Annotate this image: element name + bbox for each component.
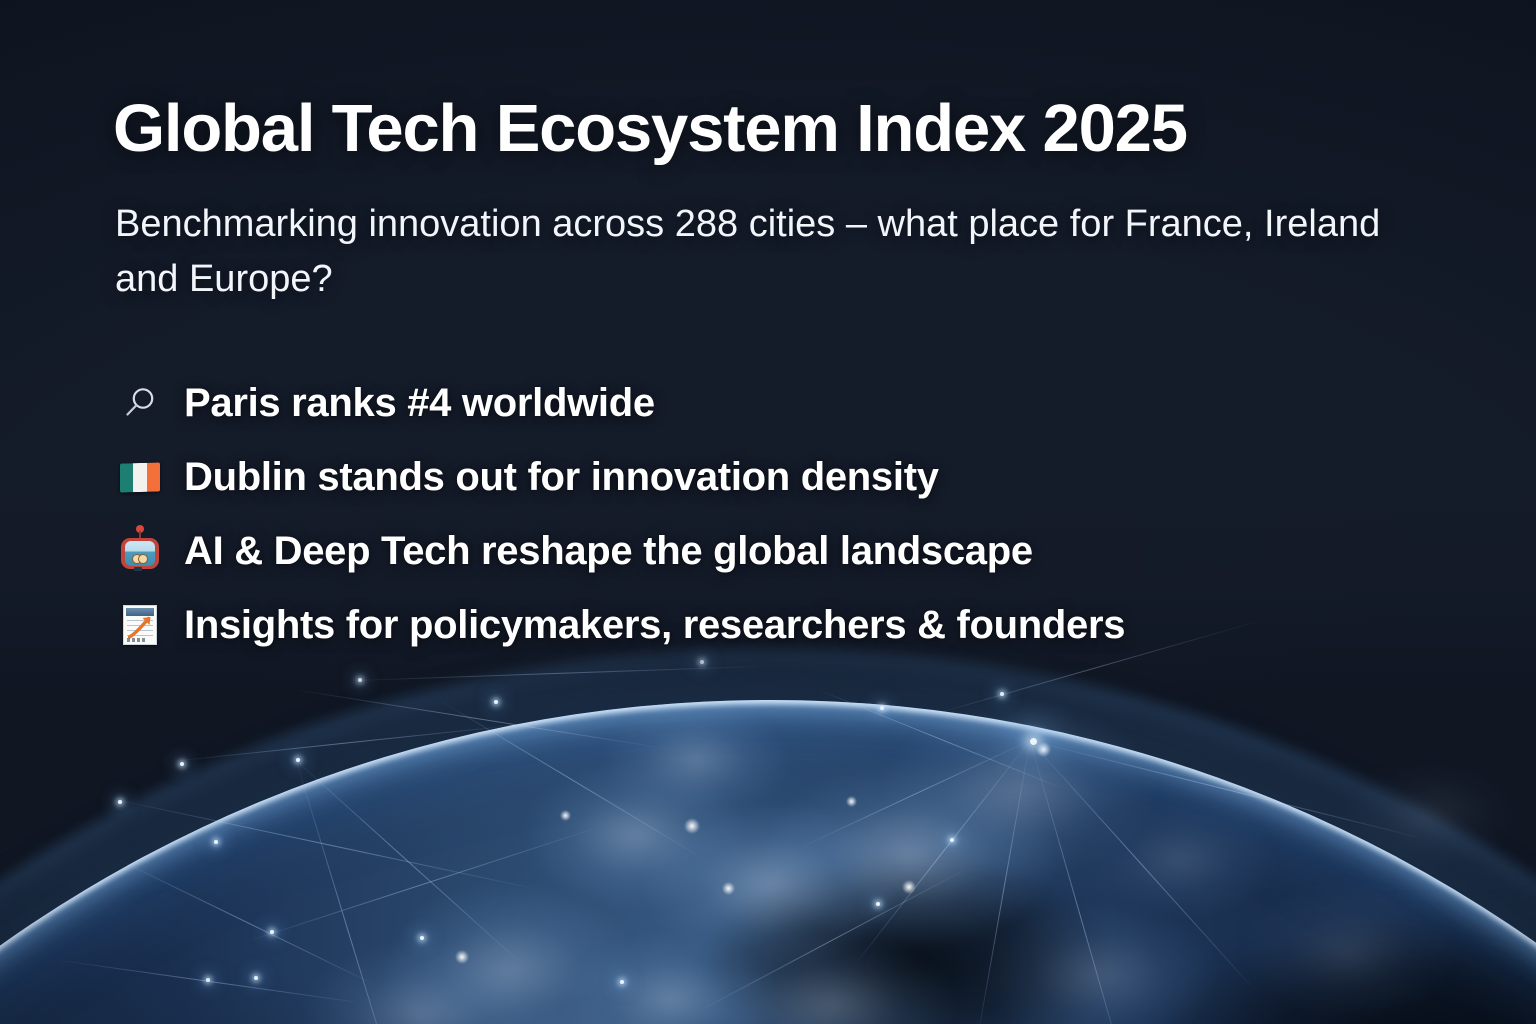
highlight-list: Paris ranks #4 worldwide Dublin stands o… xyxy=(118,366,1125,662)
robot-icon xyxy=(118,529,162,573)
page-subtitle: Benchmarking innovation across 288 citie… xyxy=(115,197,1385,307)
list-item-label: Paris ranks #4 worldwide xyxy=(184,381,655,426)
list-item-label: Dublin stands out for innovation density xyxy=(184,455,939,500)
list-item: Insights for policymakers, researchers &… xyxy=(118,588,1125,662)
ireland-flag-icon xyxy=(118,455,162,499)
list-item: Dublin stands out for innovation density xyxy=(118,440,1125,514)
list-item-label: AI & Deep Tech reshape the global landsc… xyxy=(184,529,1033,574)
chart-increasing-icon xyxy=(118,603,162,647)
magnifying-glass-icon xyxy=(118,381,162,425)
page-title: Global Tech Ecosystem Index 2025 xyxy=(113,93,1187,164)
list-item: Paris ranks #4 worldwide xyxy=(118,366,1125,440)
list-item-label: Insights for policymakers, researchers &… xyxy=(184,603,1125,648)
poster-canvas: Global Tech Ecosystem Index 2025 Benchma… xyxy=(0,0,1536,1024)
list-item: AI & Deep Tech reshape the global landsc… xyxy=(118,514,1125,588)
